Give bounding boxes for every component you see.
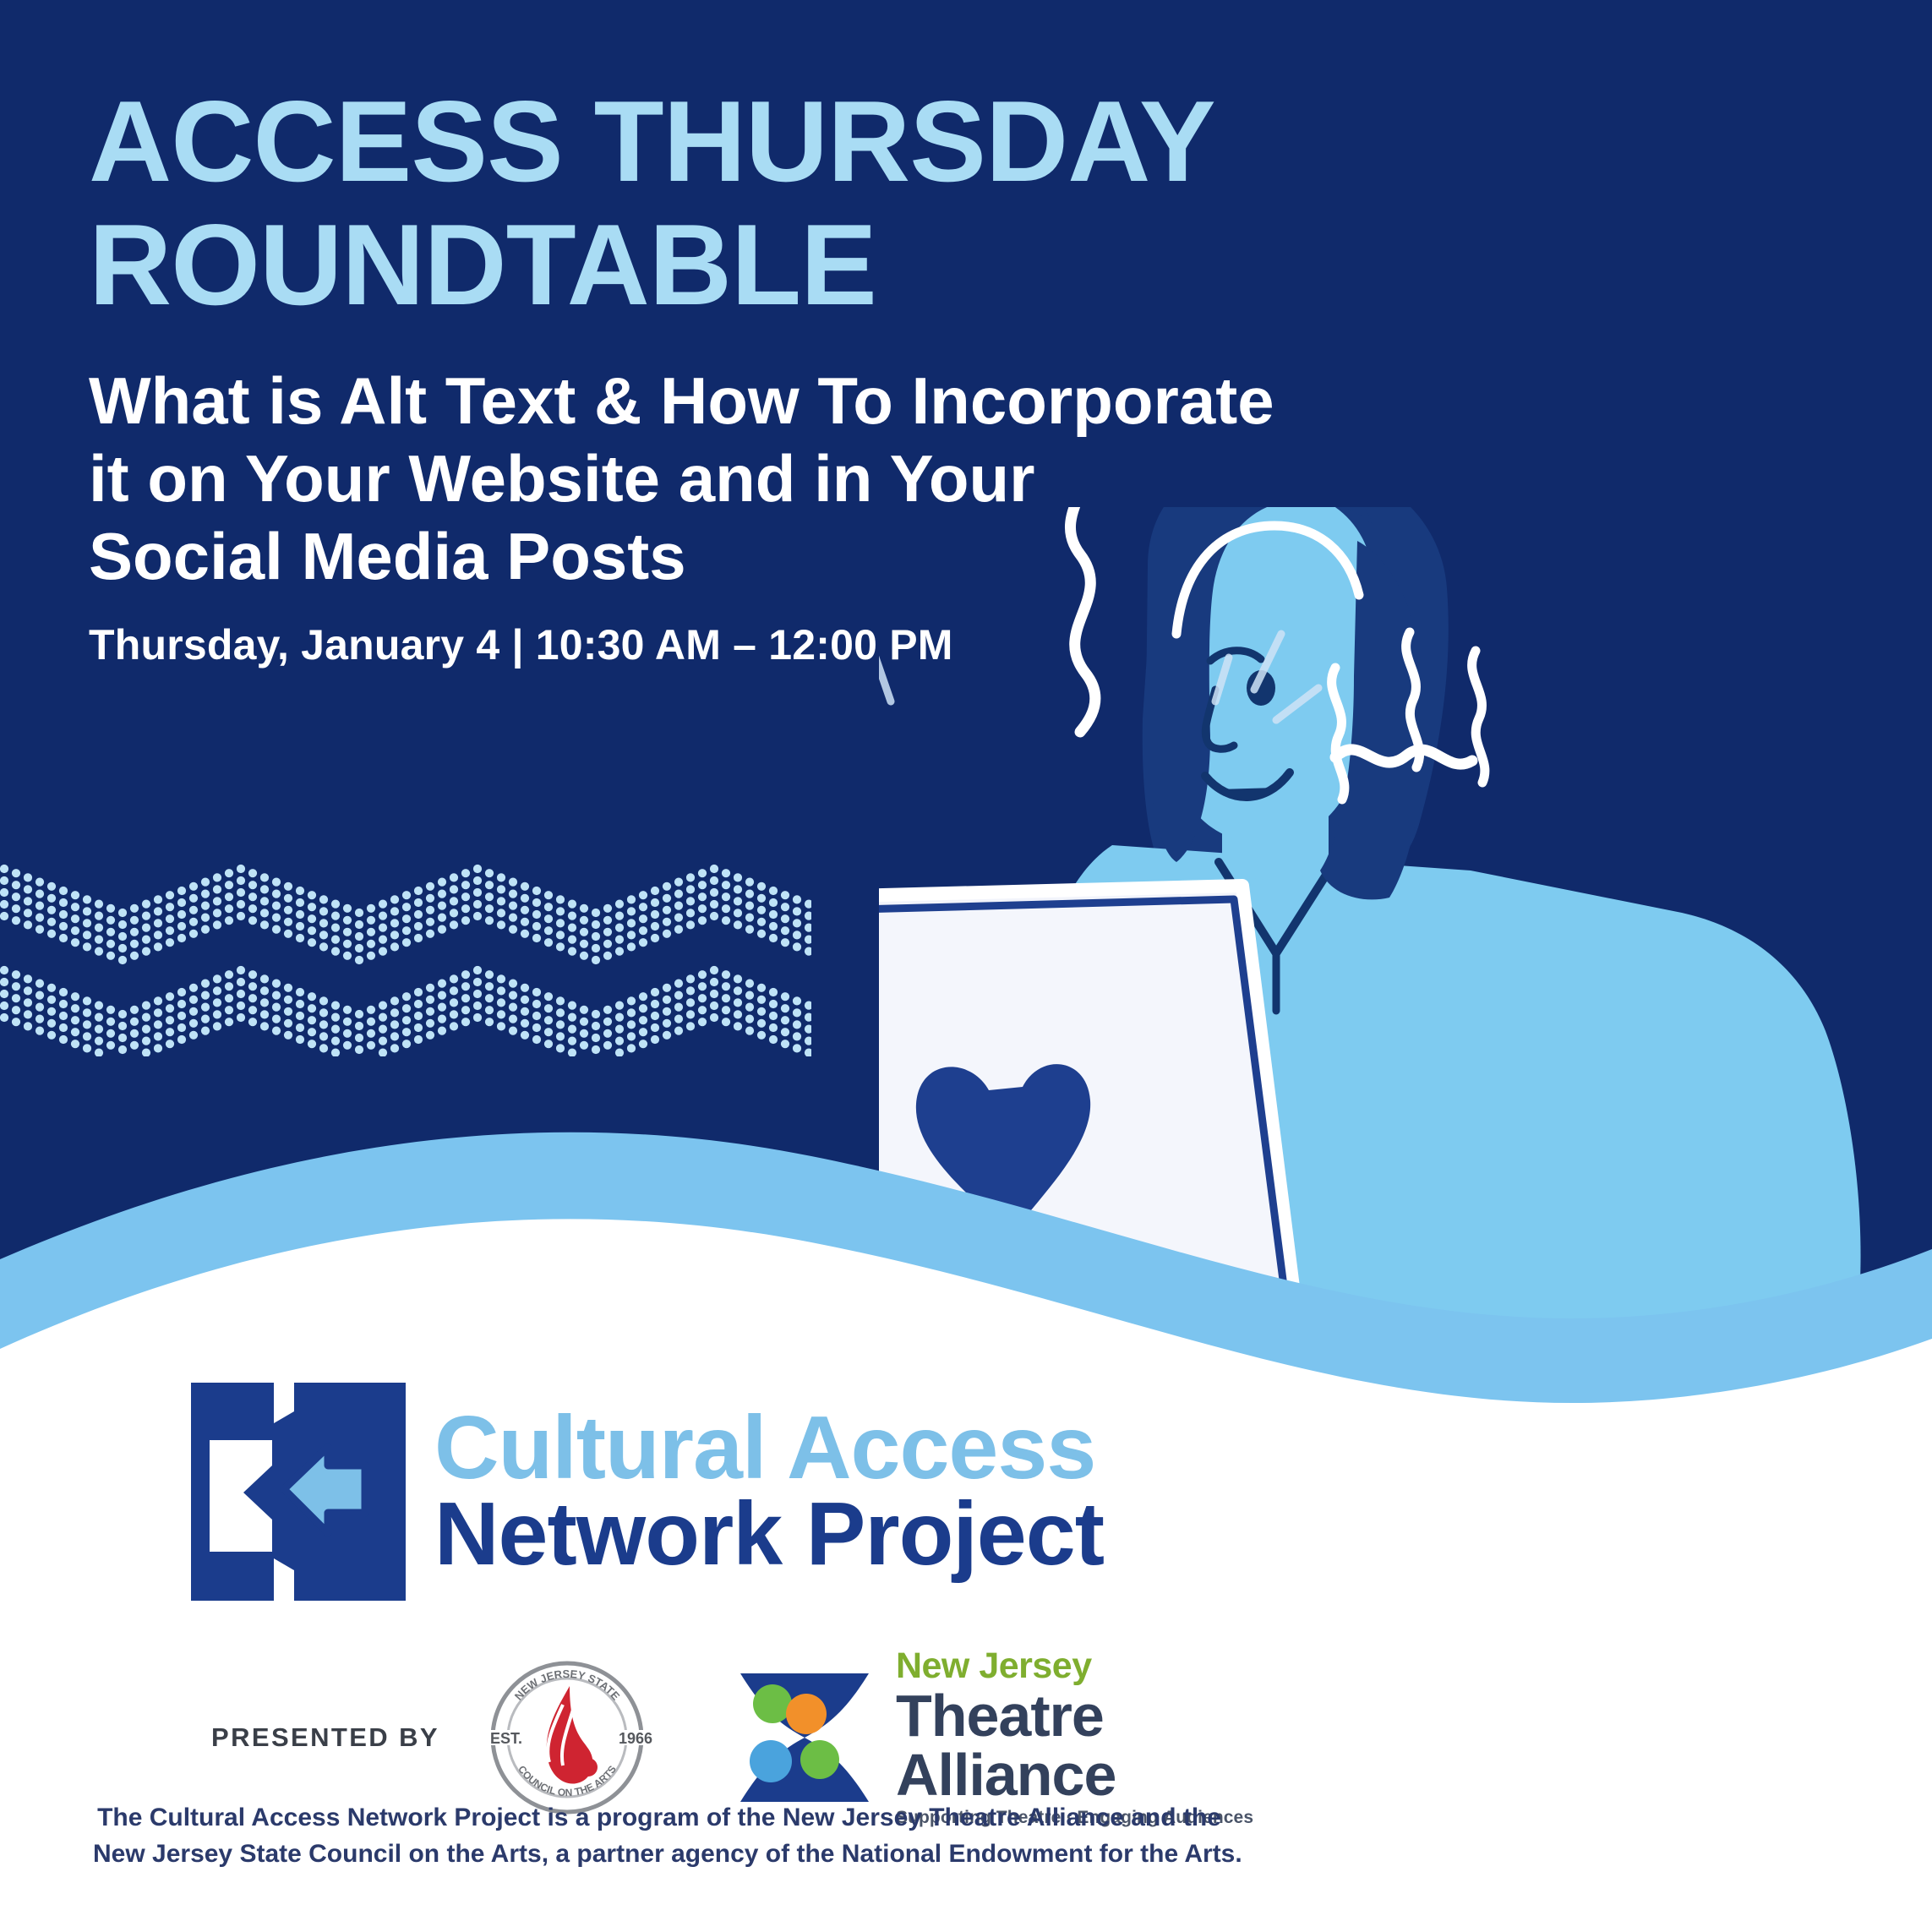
headline-line-2: ROUNDTABLE <box>89 200 876 329</box>
subtitle-line-2: it on Your Website and in Your <box>89 441 1035 516</box>
subtitle-line-1: What is Alt Text & How To Incorporate <box>89 363 1274 438</box>
cultural-access-network-project-logo: Cultural Access Network Project <box>184 1378 1104 1606</box>
subtitle-line-3: Social Media Posts <box>89 519 686 593</box>
text-block: ACCESS THURSDAY ROUNDTABLE What is Alt T… <box>89 80 1830 669</box>
seal-left-text: EST. <box>490 1730 522 1747</box>
puzzle-piece-arrow-icon <box>184 1378 412 1606</box>
program-disclaimer: The Cultural Access Network Project is a… <box>0 1800 1318 1872</box>
presented-by-label: PRESENTED BY <box>211 1722 439 1753</box>
headline-line-1: ACCESS THURSDAY <box>89 77 1215 205</box>
nj-state-council-on-the-arts-seal-icon: NEW JERSEY STATE COUNCIL ON THE ARTS EST… <box>478 1649 656 1826</box>
disclaimer-line-1: The Cultural Access Network Project is a… <box>93 1800 1225 1836</box>
disclaimer-line-2: New Jersey State Council on the Arts, a … <box>93 1836 1225 1873</box>
canp-wordmark: Cultural Access Network Project <box>434 1407 1104 1575</box>
canp-name-line-2: Network Project <box>434 1493 1104 1576</box>
page-title: ACCESS THURSDAY ROUNDTABLE <box>89 80 1830 326</box>
njta-line-2: Theatre Alliance <box>896 1686 1318 1804</box>
session-subtitle: What is Alt Text & How To Incorporate it… <box>89 362 1779 595</box>
event-datetime: Thursday, January 4 | 10:30 AM – 12:00 P… <box>89 620 1830 669</box>
seal-right-text: 1966 <box>619 1730 652 1747</box>
njta-line-1: New Jersey <box>896 1648 1318 1684</box>
theatre-alliance-x-mark-icon <box>729 1662 881 1814</box>
promo-graphic: ACCESS THURSDAY ROUNDTABLE What is Alt T… <box>0 0 1932 1932</box>
canp-name-line-1: Cultural Access <box>434 1407 1104 1490</box>
